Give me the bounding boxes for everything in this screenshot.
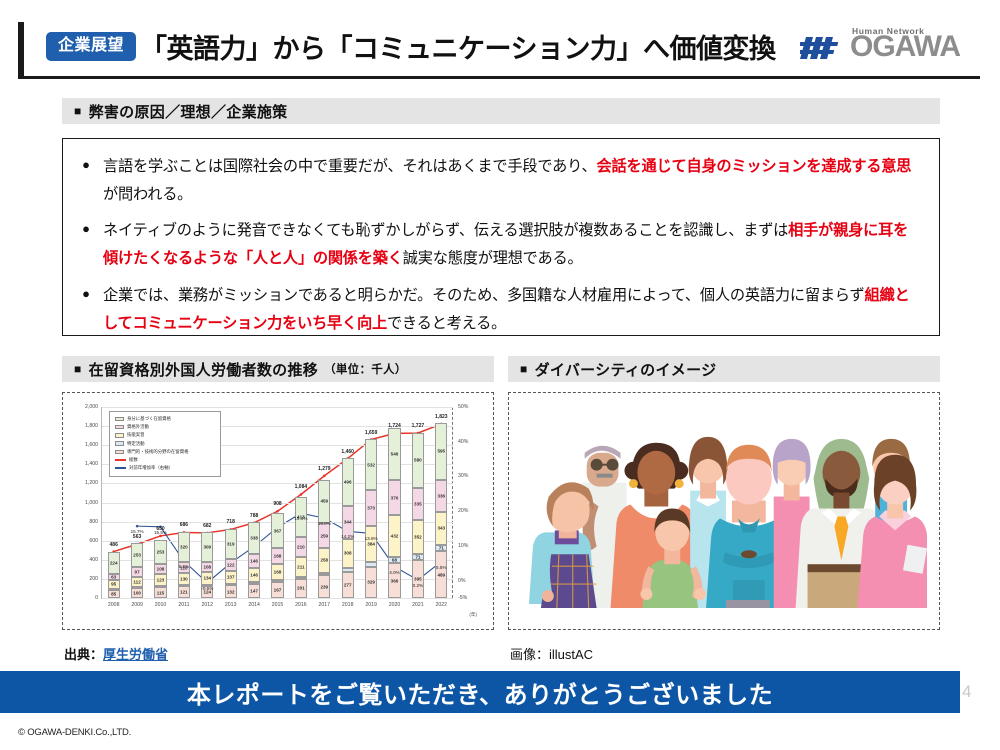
chart-x-tick: 2014 [248,602,260,608]
chart-legend-item: 対前年増加率（右軸） [115,465,216,471]
chart-bar-segment: 496 [342,458,354,505]
chart-y2-tick: 30% [458,473,468,479]
chart-rate-point [136,525,139,528]
chart-rate-label: 0.2% [413,583,423,588]
chart-segment-value: 167 [274,588,282,593]
chart-x-tick: 2022 [436,602,448,608]
chart-bar-segment: 489 [435,551,447,598]
chart-y2-tick: -5% [458,595,467,601]
chart-bar-segment [365,562,377,566]
chart-x-tick: 2016 [295,602,307,608]
chart-segment-value: 366 [391,578,399,583]
chart-bar: 48971343336595 [435,424,447,598]
chart-gridline [102,407,453,408]
chart-segment-value: 370 [391,495,399,500]
chart-bar-segment: 137 [225,571,237,584]
chart-segment-value: 373 [367,505,375,510]
chart-legend-line [115,459,126,461]
slide: 企業展望 「英語力」から「コミュニケーション力」へ価値変換 Human Netw… [0,0,1000,750]
chart-bar: 39571352335580 [412,433,424,598]
chart-legend-item: 身分に基づく在留資格 [115,416,216,422]
chart-segment-value: 122 [227,562,235,567]
chart-bar-segment: 258 [318,548,330,573]
chart-bar-segment: 459 [318,480,330,524]
chart-bar-segment: 384 [365,526,377,563]
chart-segment-value: 277 [344,582,352,587]
chart-segment-value: 344 [344,520,352,525]
chart-segment-value: 309 [203,544,211,549]
chart-segment-value: 147 [250,588,258,593]
chart-x-tick: 2009 [131,602,143,608]
chart-bar-segment: 132 [225,585,237,598]
chart-bar-segment: 121 [178,586,190,598]
slide-header: 企業展望 「英語力」から「コミュニケーション力」へ価値変換 Human Netw… [0,0,1000,88]
chart-legend-swatch [115,433,124,438]
chart-x-tick: 2019 [365,602,377,608]
chart-total-label: 718 [227,519,235,525]
chart-legend-label: 技能実習 [127,432,145,438]
chart-panel: (年) 02004006008001,0001,2001,4001,6001,8… [62,392,494,630]
diversity-people-illustration [521,405,927,618]
chart-bar-segment: 367 [271,513,283,548]
chart-rate-label: -0.6% [201,586,213,591]
footer-band: 本レポートをご覧いただき、ありがとうございました [0,671,960,713]
chart-total-label: 682 [203,523,211,529]
chart-bar-segment: 100 [131,588,143,598]
chart-segment-value: 459 [320,499,328,504]
chart-segment-value: 432 [391,533,399,538]
bullet-item: ●企業では、業務がミッションであると明らかだ。そのため、多国籍な人材雇用によって… [69,282,921,338]
chart-segment-value: 211 [297,564,304,569]
chart-bar-segment: 335 [412,488,424,520]
chart-bar-segment [318,573,330,575]
chart-total-label: 908 [273,501,281,507]
section-label-chart: 在留資格別外国人労働者数の推移 [89,359,319,380]
chart-legend-item: 技能実習 [115,432,216,438]
chart-x-tick: 2012 [202,602,214,608]
chart-legend-label: 資格外活動 [127,424,149,430]
page-number: 4 [962,682,971,702]
chart-legend-label: 特定活動 [127,441,145,447]
chart-x-tick: 2011 [178,602,189,608]
chart-rate-label: 15.5% [154,530,167,535]
chart-y-tick: 600 [89,538,98,544]
chart-total-label: 1,084 [295,484,308,490]
chart-bar-segment: 97 [131,567,143,576]
chart-y-tick: 1,400 [85,461,98,467]
bullet-list-box: ●言語を学ぶことは国際社会の中で重要だが、それはあくまで手段であり、会話を通じて… [62,138,940,336]
chart-bar-segment: 370 [388,480,400,515]
chart-segment-value: 496 [344,480,352,485]
section-marker-icon: ■ [74,105,82,117]
header-divider [18,76,980,79]
chart-segment-value: 168 [274,570,282,575]
chart-y-tick: 1,000 [85,500,98,506]
chart-segment-value: 71 [415,554,420,559]
chart-source-prefix: 出典： [64,647,103,662]
chart-bar-segment [271,580,283,582]
chart-y-tick: 400 [89,557,98,563]
section-marker-icon: ■ [520,363,528,375]
chart-segment-value: 320 [180,545,188,550]
chart-source-link[interactable]: 厚生労働省 [103,647,168,662]
chart-bar-segment: 147 [248,584,260,598]
chart-y-tick: 0 [95,595,98,601]
chart-bar-segment: 68 [388,557,400,563]
chart-segment-value: 115 [157,590,164,595]
chart-bar-segment: 168 [271,548,283,564]
chart-total-label: 788 [250,513,258,519]
chart-segment-value: 168 [274,554,282,559]
chart-segment-value: 134 [203,576,211,581]
chart-segment-value: 259 [320,533,328,538]
chart-source-caption: 出典：厚生労働省 [64,644,168,663]
chart-y-tick: 1,200 [85,480,98,486]
bullet-item: ●ネイティブのように発音できなくても恥ずかしがらず、伝える選択肢が複数あることを… [69,217,921,273]
section-marker-icon: ■ [74,363,82,375]
chart-bar-segment: 343 [435,512,447,545]
diversity-image-panel [508,392,940,630]
chart-bar-segment: 134 [201,572,213,585]
bullet-plain: 誠実な態度が理想である。 [403,250,583,267]
chart-legend-swatch [115,441,124,446]
chart-total-label: 486 [110,542,118,548]
chart-total-label: 1,279 [318,466,331,472]
bullet-item: ●言語を学ぶことは国際社会の中で重要だが、それはあくまで手段であり、会話を通じて… [69,153,921,209]
image-source-caption: 画像：illustAC [510,644,593,663]
chart-bar: 239258259459 [318,476,330,598]
chart-bar-segment: 122 [225,559,237,571]
chart-bar-segment: 210 [295,537,307,557]
chart-total-label: 1,460 [341,449,354,455]
chart-segment-value: 100 [133,591,141,596]
chart-total-label: 1,727 [412,423,425,429]
chart-segment-value: 146 [250,573,258,578]
chart-segment-value: 95 [111,582,116,587]
chart-x-tick: 2015 [272,602,284,608]
bullet-plain: 言語を学ぶことは国際社会の中で重要だが、それはあくまで手段であり、 [103,158,597,175]
chart-segment-value: 352 [414,534,422,539]
chart-y-tick: 1,800 [85,423,98,429]
chart-bar-segment: 146 [248,568,260,582]
section-label-image: ダイバーシティのイメージ [535,359,717,380]
chart-bar: 167168168367 [271,511,283,598]
chart-bar-segment: 167 [271,582,283,598]
chart-bar-segment: 546 [388,428,400,480]
bullet-plain: ネイティブのように発音できなくても恥ずかしがらず、伝える選択肢が複数あることを認… [103,222,788,239]
chart-bar-segment: 309 [201,532,213,562]
chart-y-tick: 200 [89,576,98,582]
section-header-image: ■ ダイバーシティのイメージ [508,356,940,382]
chart-x-tick: 2020 [389,602,401,608]
chart-legend-label: 対前年増加率（右軸） [129,465,173,471]
chart-rate-label: 5.6% [179,564,189,569]
chart-y-tick: 2,000 [85,404,98,410]
header-accent-bar [18,22,24,76]
bullet-text: 企業では、業務がミッションであると明らかだ。そのため、多国籍な人材雇用によって、… [103,282,921,338]
chart-bar-segment: 259 [318,523,330,548]
chart-rate-label: 14.2% [341,534,354,539]
logo-wordmark: OGAWA [850,32,960,62]
chart-segment-value: 108 [203,564,211,569]
chart-segment-value: 146 [250,559,258,564]
chart-rate-label: 13.6% [365,536,378,541]
chart-legend-item: 資格外活動 [115,424,216,430]
chart-bar-segment: 253 [131,543,143,567]
footer-message: 本レポートをご覧いただき、ありがとうございました [187,675,773,710]
chart-bar-segment: 95 [108,580,120,589]
bullet-marker-icon: ● [69,153,103,209]
section-header-chart: ■ 在留資格別外国人労働者数の推移 （単位：千人） [62,356,494,382]
chart-legend-label: 総数 [129,457,138,463]
chart-legend-line [115,467,126,469]
chart-bar-segment: 239 [318,575,330,598]
chart-y-tick: 800 [89,519,98,525]
chart-bar-segment: 319 [225,529,237,559]
chart-segment-value: 308 [344,551,352,556]
chart-bar: 277308344496 [342,459,354,598]
chart-bar-segment [295,577,307,579]
chart-rate-label: 19.4% [294,516,307,521]
chart-segment-value: 97 [135,570,140,575]
chart-legend-item: 総数 [115,457,216,463]
chart-bar-segment: 338 [248,522,260,554]
chart-bar-segment: 336 [435,480,447,512]
chart-segment-value: 123 [157,578,165,583]
bullet-marker-icon: ● [69,282,103,338]
chart-segment-value: 367 [274,528,282,533]
chart-segment-value: 201 [297,586,305,591]
chart-segment-value: 546 [391,451,399,456]
chart-y2-tick: 10% [458,543,468,549]
chart-bar-segment: 277 [342,572,354,598]
bullet-highlight: 会話を通じて自身のミッションを達成する意思 [597,158,912,175]
chart-segment-value: 239 [320,584,328,589]
chart-bar: 132137122319 [225,529,237,598]
chart-total-label: 686 [180,522,188,528]
chart-bar-segment: 71 [412,554,424,561]
chart-x-tick: 2021 [412,602,424,608]
chart-y2-tick: 0% [458,578,466,584]
chart-segment-value: 137 [227,575,235,580]
chart-bar: 859563224 [108,552,120,598]
chart-bar-segment: 108 [201,562,213,572]
chart-bar-segment: 373 [365,490,377,526]
chart-bar-segment: 320 [178,532,190,563]
chart-segment-value: 343 [437,526,445,531]
chart-legend-item: 特定活動 [115,441,216,447]
chart-bar-segment: 432 [388,515,400,556]
chart-total-label: 1,659 [365,430,378,436]
chart-segment-value: 258 [320,558,328,563]
bullet-plain: が問われる。 [103,186,192,203]
chart-bar-segment: 595 [435,423,447,480]
chart-x-axis-unit: (年) [469,612,477,618]
bullet-text: 言語を学ぶことは国際社会の中で重要だが、それはあくまで手段であり、会話を通じて自… [103,153,921,209]
chart-legend-swatch [115,425,124,430]
ogawa-hash-icon [800,35,842,61]
bullet-marker-icon: ● [69,217,103,273]
chart-bar-segment: 130 [178,573,190,585]
chart-bar-segment: 85 [108,590,120,598]
chart-bar: 329384373532 [365,440,377,598]
chart-segment-value: 329 [367,580,375,585]
chart-bar-segment: 168 [271,564,283,580]
chart-segment-value: 335 [414,501,422,506]
chart-total-label: 1,724 [388,423,401,429]
chart-bar-segment: 329 [365,567,377,598]
chart-segment-value: 224 [110,561,118,566]
bullet-text: ネイティブのように発音できなくても恥ずかしがらず、伝える選択肢が複数あることを認… [103,217,921,273]
chart-legend-swatch [115,450,124,455]
chart-bar-segment: 108 [154,564,166,574]
chart-segment-value: 112 [133,580,140,585]
section-label-cause: 弊害の原因／理想／企業施策 [89,101,288,122]
chart-y2-tick: 40% [458,439,468,445]
chart-legend-label: 身分に基づく在留資格 [127,416,171,422]
chart-segment-value: 489 [437,572,445,577]
chart-segment-value: 384 [367,541,375,546]
chart-gridline [102,598,453,599]
chart-bar-segment: 532 [365,439,377,490]
chart-total-label: 563 [133,534,141,540]
chart-bar: 10011297253 [131,544,143,598]
chart-rate-label: 4.0% [389,570,399,575]
chart-segment-value: 210 [297,544,305,549]
copyright-text: © OGAWA-DENKI.Co.,LTD. [18,727,131,738]
chart-total-label: 1,823 [435,414,448,420]
chart-bar-segment: 146 [248,554,260,568]
chart-segment-value: 130 [180,577,188,582]
chart-segment-value: 71 [439,545,444,550]
chart-bar-segment [248,582,260,584]
chart-legend: 身分に基づく在留資格資格外活動技能実習特定活動専門的・技術的分野の在留資格総数対… [109,411,221,477]
chart-bar-segment: 201 [295,579,307,598]
chart-bar: 115123108253 [154,536,166,598]
chart-segment-value: 108 [157,566,165,571]
chart-bar-segment: 366 [388,563,400,598]
chart-bar-segment: 112 [131,577,143,588]
chart-segment-value: 253 [157,549,165,554]
chart-bar-segment: 224 [108,552,120,573]
chart-bar-segment: 308 [342,539,354,568]
chart-segment-value: 338 [250,536,258,541]
chart-segment-value: 85 [111,591,116,596]
chart-segment-value: 68 [392,557,397,562]
chart-rate-label: 18.0% [318,521,331,526]
section-unit-chart: （単位：千人） [324,361,407,377]
foreign-workers-chart: (年) 02004006008001,0001,2001,4001,6001,8… [63,393,493,629]
chart-bar-segment: 352 [412,520,424,554]
chart-rate-label: 5.5% [436,565,446,570]
chart-segment-value: 121 [180,590,188,595]
chart-bar-segment: 211 [295,557,307,577]
chart-legend-swatch [115,417,124,422]
chart-segment-value: 580 [414,458,422,463]
chart-legend-label: 専門的・技術的分野の在留資格 [127,449,188,455]
chart-x-tick: 2008 [108,602,120,608]
chart-rate-label: 15.7% [131,529,144,534]
chart-bar-segment: 123 [154,574,166,586]
chart-segment-value: 63 [111,574,116,579]
bullet-plain: できると考える。 [387,315,506,332]
company-logo: Human Network OGAWA [800,26,982,70]
chart-x-tick: 2018 [342,602,354,608]
chart-bar-segment: 63 [108,574,120,580]
chart-segment-value: 253 [133,553,141,558]
page-title: 「英語力」から「コミュニケーション力」へ価値変換 [140,27,775,66]
chart-segment-value: 395 [414,577,422,582]
chart-segment-value: 336 [437,493,445,498]
chart-segment-value: 319 [227,541,235,546]
chart-bar-segment: 395 [412,560,424,598]
chart-bar-segment [342,568,354,571]
section-header-cause: ■ 弊害の原因／理想／企業施策 [62,98,940,124]
header-category-chip: 企業展望 [46,32,136,61]
chart-y-tick: 1,600 [85,442,98,448]
chart-x-tick: 2013 [225,602,237,608]
chart-segment-value: 595 [437,449,445,454]
chart-bar: 147146146338 [248,523,260,598]
chart-bar-segment: 115 [154,587,166,598]
chart-bar-segment: 580 [412,433,424,488]
chart-segment-value: 532 [367,462,375,467]
chart-segment-value: 132 [227,589,235,594]
chart-legend-item: 専門的・技術的分野の在留資格 [115,449,216,455]
chart-bar-segment: 71 [435,545,447,552]
chart-bar: 201211210413 [295,494,307,598]
chart-y2-tick: 20% [458,508,468,514]
chart-y2-tick: 50% [458,404,468,410]
chart-x-tick: 2010 [155,602,167,608]
chart-bar-segment: 253 [154,540,166,564]
chart-x-tick: 2017 [319,602,331,608]
bullet-plain: 企業では、業務がミッションであると明らかだ。そのため、多国籍な人材雇用によって、… [103,287,864,304]
